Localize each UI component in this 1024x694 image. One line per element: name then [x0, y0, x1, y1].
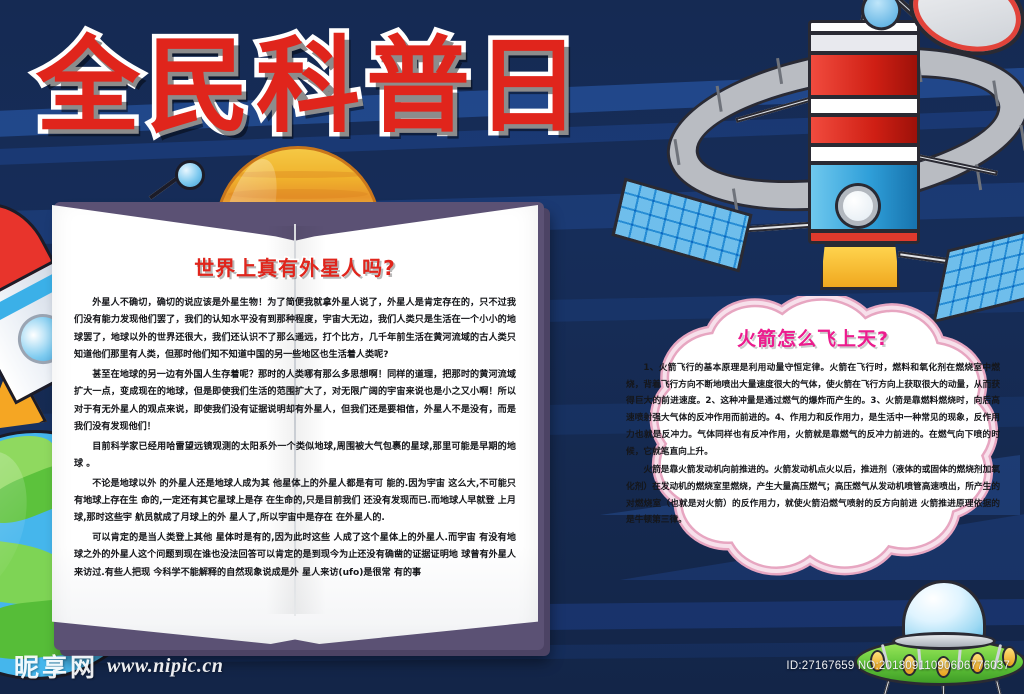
watermark-url: www.nipic.cn [107, 655, 223, 678]
space-station-illustration [640, 0, 1024, 336]
cloud-callout: 火箭怎么飞上天? 1、火箭飞行的基本原理是利用动量守恒定律。火箭在飞行时，燃料和… [596, 296, 1024, 608]
article-paragraph: 目前科学家已经用哈雷望远镜观测的太阳系外一个类似地球,周围被大气包裹的星球,那里… [74, 439, 516, 474]
watermark-logo: 昵享网 [14, 648, 98, 684]
cloud-paragraph: 火箭是靠火箭发动机向前推进的。火箭发动机点火以后，推进剂（液体的或固体的燃烧剂加… [626, 462, 1000, 529]
page-title: 全民科普日 [36, 32, 586, 141]
article-heading: 世界上真有外星人吗? [74, 252, 516, 281]
poster-canvas: 全民科普日 世界上真有外星人吗? 外星人不确切，确切的说应该是外星生物！为了简便… [0, 0, 1024, 694]
cloud-article: 火箭怎么飞上天? 1、火箭飞行的基本原理是利用动量守恒定律。火箭在飞行时，燃料和… [620, 316, 1006, 588]
open-book: 世界上真有外星人吗? 外星人不确切，确切的说应该是外星生物！为了简便我就拿外星人… [52, 196, 550, 656]
engine-nozzle [820, 244, 900, 290]
article-paragraph: 甚至在地球的另一边有外国人生存着呢？那时的人类哪有那么多思想啊！同样的道理，把那… [74, 367, 516, 437]
article-paragraph: 外星人不确切，确切的说应该是外星生物！为了简便我就拿外星人说了，外星人是肯定存在… [74, 295, 516, 365]
cloud-paragraph: 1、火箭飞行的基本原理是利用动量守恒定律。火箭在飞行时，燃料和氧化剂在燃烧室中燃… [626, 360, 1000, 460]
station-core [808, 20, 920, 250]
article-paragraph: 可以肯定的是当人类登上其他 星体时是有的,因为此时这些 人成了这个星体上的外星人… [74, 530, 516, 582]
image-id-text: ID:27167659 NO:20180911090606776037 [786, 660, 1010, 672]
porthole-icon [838, 186, 878, 226]
watermark: 昵享网 www.nipic.cn [14, 648, 223, 684]
cloud-heading: 火箭怎么飞上天? [626, 324, 1000, 351]
article-left: 世界上真有外星人吗? 外星人不确切，确切的说应该是外星生物！为了简便我就拿外星人… [52, 196, 538, 644]
article-paragraph: 不论是地球以外 的外星人还是地球人成为其 他星体上的外星人都是有可 能的.因为宇… [74, 476, 516, 528]
